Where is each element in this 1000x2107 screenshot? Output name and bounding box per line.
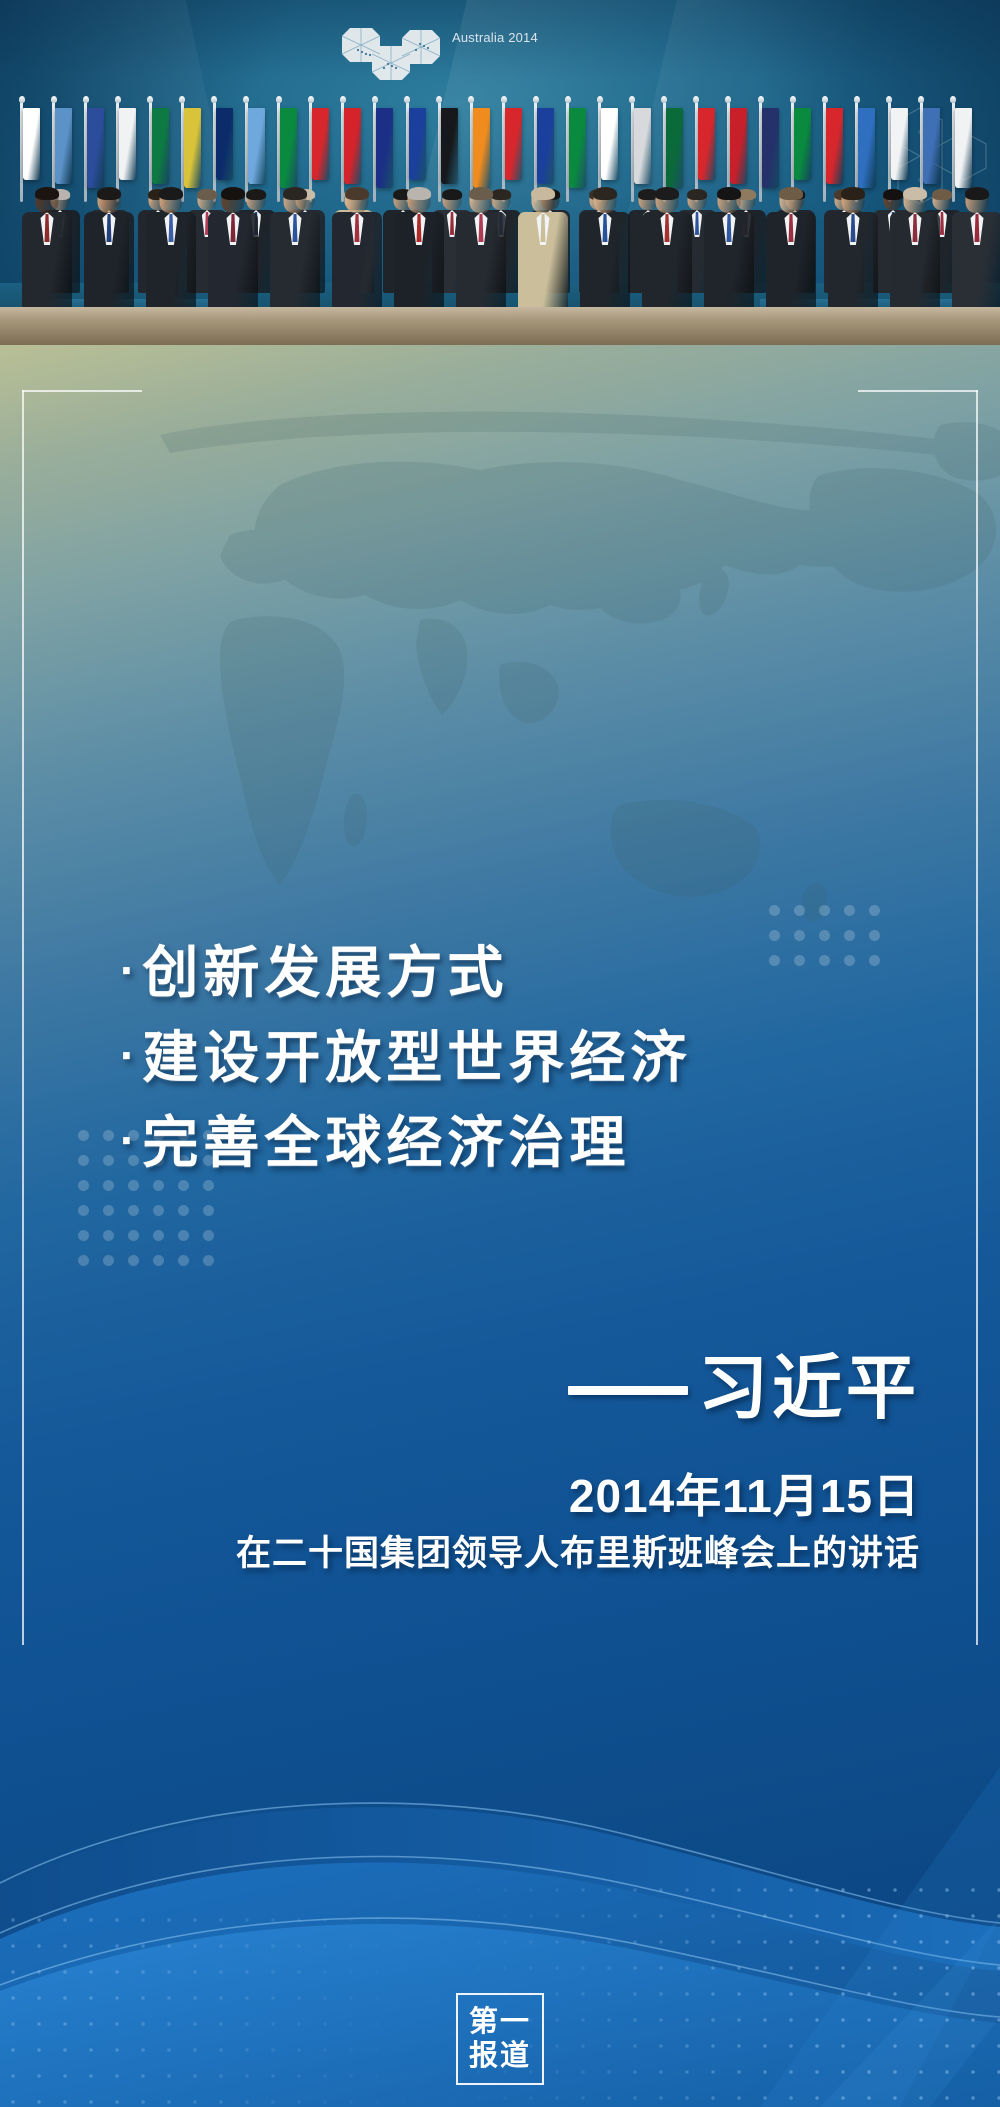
bullet-item-3: ·完善全球经济治理 xyxy=(120,1100,940,1185)
flag xyxy=(505,108,522,180)
bullet-list: ·创新发展方式 ·建设开放型世界经济 ·完善全球经济治理 xyxy=(120,930,940,1185)
flag xyxy=(312,108,329,180)
flag-finial xyxy=(83,96,89,103)
flag xyxy=(826,108,843,184)
flag xyxy=(87,108,104,188)
brand-logo-box[interactable]: 第一 报道 xyxy=(456,1993,544,2085)
flag-finial xyxy=(822,96,828,103)
flag xyxy=(923,108,940,184)
leader-hair xyxy=(531,187,555,200)
flag-finial xyxy=(19,96,25,103)
leader-hair xyxy=(593,187,617,200)
leader-hair xyxy=(283,187,307,200)
leader-hair xyxy=(903,187,927,200)
flag xyxy=(55,108,72,184)
flag-finial xyxy=(533,96,539,103)
flag xyxy=(537,108,554,184)
flag-finial xyxy=(340,96,346,103)
flag xyxy=(891,108,908,180)
leader-figure xyxy=(208,187,258,315)
leader-hair xyxy=(35,187,59,200)
flag-finial xyxy=(950,96,956,103)
bullet-item-1: ·创新发展方式 xyxy=(120,930,940,1015)
leader-figure xyxy=(84,187,134,315)
bullet-marker: · xyxy=(120,936,140,1006)
flag-finial xyxy=(179,96,185,103)
leader-hair xyxy=(655,187,679,200)
leader-figure xyxy=(394,187,444,315)
flag-finial xyxy=(468,96,474,103)
flag xyxy=(376,108,393,188)
leader-figure xyxy=(828,187,878,315)
flag xyxy=(601,108,618,180)
flag-finial xyxy=(597,96,603,103)
bullet-item-2: ·建设开放型世界经济 xyxy=(120,1015,940,1100)
leader-figure xyxy=(456,187,506,315)
flag-finial xyxy=(308,96,314,103)
leader-figure xyxy=(766,187,816,315)
leader-figure xyxy=(146,187,196,315)
flag-finial xyxy=(51,96,57,103)
leader-hair xyxy=(779,187,803,200)
flag-finial xyxy=(115,96,121,103)
leader-hair xyxy=(965,187,989,200)
flag xyxy=(955,108,972,188)
brand-line-2: 报道 xyxy=(469,2040,531,2072)
flag-finial xyxy=(693,96,699,103)
leader-figure xyxy=(890,187,940,315)
attribution-signature: 习近平 xyxy=(568,1355,920,1425)
speech-occasion: 在二十国集团领导人布里斯班峰会上的讲话 xyxy=(236,1525,920,1576)
em-dash-rule xyxy=(568,1386,688,1395)
flag xyxy=(569,108,586,188)
flag-finial xyxy=(854,96,860,103)
flag xyxy=(280,108,297,188)
flag xyxy=(858,108,875,188)
quote-panel: ·创新发展方式 ·建设开放型世界经济 ·完善全球经济治理 习近平 2014年11… xyxy=(0,345,1000,2107)
leader-hair xyxy=(469,187,493,200)
leader-figure xyxy=(952,187,1000,315)
flag-finial xyxy=(790,96,796,103)
leader-figure xyxy=(332,187,382,315)
bullet-text: 建设开放型世界经济 xyxy=(142,1026,691,1089)
leader-hair xyxy=(841,187,865,200)
flag xyxy=(634,108,651,184)
stage-floor xyxy=(0,307,1000,345)
bullet-text: 完善全球经济治理 xyxy=(142,1111,630,1174)
flag-finial xyxy=(758,96,764,103)
g20-logo-icon xyxy=(336,24,456,86)
flag xyxy=(23,108,40,180)
leader-hair xyxy=(97,187,121,200)
g20-family-photo: Australia 2014 xyxy=(0,0,1000,345)
flag xyxy=(344,108,361,184)
flag xyxy=(666,108,683,188)
flag-finial xyxy=(276,96,282,103)
flag xyxy=(698,108,715,180)
bullet-marker: · xyxy=(120,1021,140,1091)
bullet-marker: · xyxy=(120,1106,140,1176)
leader-figure xyxy=(642,187,692,315)
flag-finial xyxy=(565,96,571,103)
flag-finial xyxy=(211,96,217,103)
flag xyxy=(730,108,747,184)
speech-date: 2014年11月15日 xyxy=(569,1460,920,1526)
leader-hair xyxy=(407,187,431,200)
leader-figure xyxy=(518,187,568,315)
flag xyxy=(794,108,811,180)
leader-figure xyxy=(270,187,320,315)
leader-hair xyxy=(345,187,369,200)
flag xyxy=(248,108,265,184)
flag xyxy=(216,108,233,180)
flag xyxy=(473,108,490,188)
flag xyxy=(762,108,779,188)
flag-finial xyxy=(886,96,892,103)
poster-root: Australia 2014 xyxy=(0,0,1000,2107)
flag xyxy=(409,108,426,180)
bullet-text: 创新发展方式 xyxy=(142,941,508,1004)
g20-logo-year-label: Australia 2014 xyxy=(452,30,538,45)
flag xyxy=(152,108,169,184)
flag-finial xyxy=(661,96,667,103)
flag-finial xyxy=(629,96,635,103)
flag-finial xyxy=(501,96,507,103)
flag-finial xyxy=(918,96,924,103)
leader-hair xyxy=(159,187,183,200)
leader-hair xyxy=(221,187,245,200)
dot-texture-left xyxy=(0,1907,420,2107)
flag xyxy=(119,108,136,180)
flag xyxy=(441,108,458,184)
leader-figure xyxy=(704,187,754,315)
flag-finial xyxy=(147,96,153,103)
flag-finial xyxy=(404,96,410,103)
speaker-name: 习近平 xyxy=(698,1355,920,1425)
flag xyxy=(184,108,201,188)
brand-line-1: 第一 xyxy=(469,2006,531,2038)
flag-finial xyxy=(372,96,378,103)
leader-figure xyxy=(22,187,72,315)
leader-figure xyxy=(580,187,630,315)
flag-finial xyxy=(436,96,442,103)
leader-hair xyxy=(717,187,741,200)
